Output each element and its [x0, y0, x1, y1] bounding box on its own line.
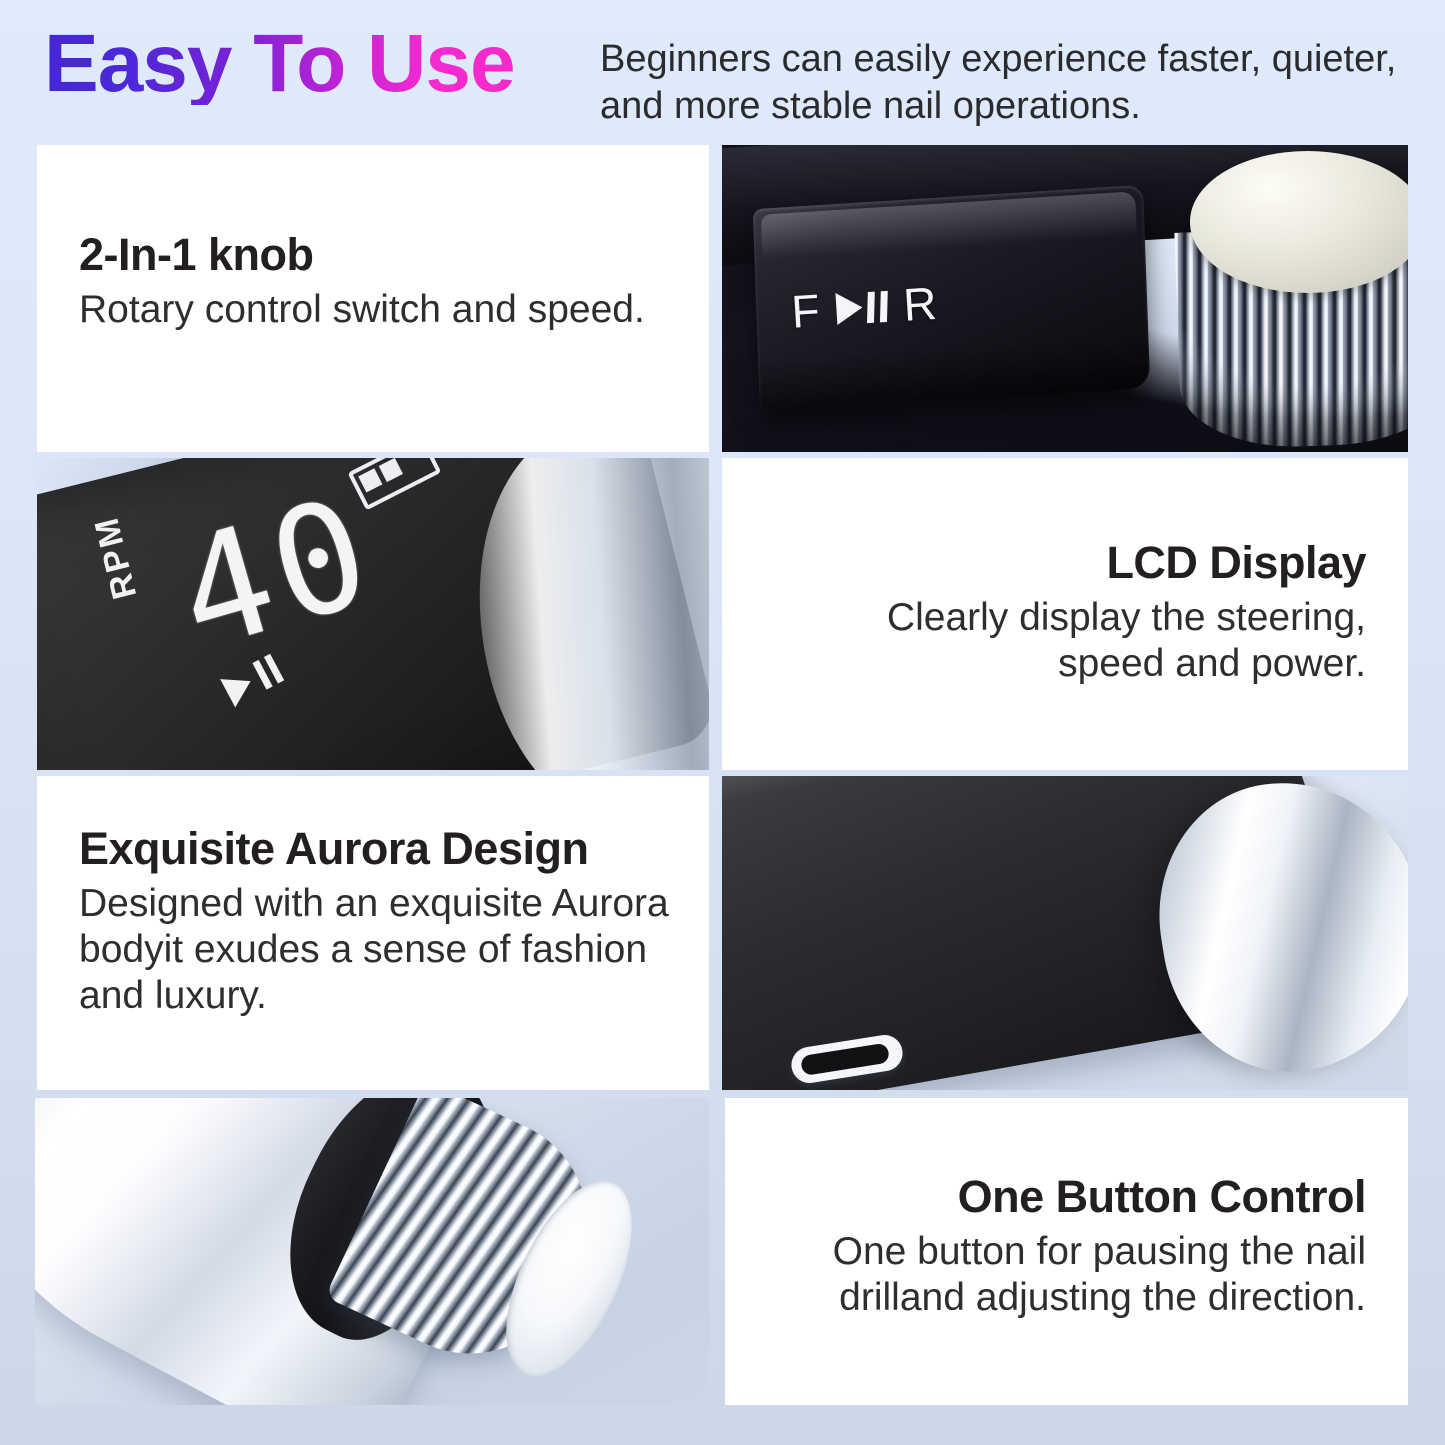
feature-body-aurora: Designed with an exquisite Aurora bodyit…: [79, 881, 704, 1019]
feature-title-knob: 2-In-1 knob: [79, 230, 689, 280]
lcd-display-closeup-photo: RPM 40: [37, 458, 709, 770]
rpm-label: RPM: [87, 512, 145, 603]
feature-title-one-button: One Button Control: [766, 1172, 1366, 1222]
page-subtitle: Beginners can easily experience faster, …: [600, 36, 1410, 129]
feature-text-lcd: LCD Display Clearly display the steering…: [776, 538, 1366, 687]
play-pause-icon: [835, 290, 888, 325]
control-button-closeup-photo: F R: [722, 145, 1408, 452]
photo-background: PUATO: [722, 776, 1408, 1090]
header: Easy To Use Beginners can easily experie…: [0, 0, 1445, 142]
knurled-knob-photo: [35, 1098, 709, 1405]
feature-card-knob: 2-In-1 knob Rotary control switch and sp…: [37, 145, 709, 452]
feature-body-one-button: One button for pausing the nail drilland…: [766, 1229, 1366, 1321]
feature-text-knob: 2-In-1 knob Rotary control switch and sp…: [79, 230, 689, 333]
rpm-value: 40: [162, 476, 389, 673]
feature-body-lcd: Clearly display the steering, speed and …: [776, 595, 1366, 687]
feature-card-lcd: LCD Display Clearly display the steering…: [722, 458, 1408, 770]
feature-title-lcd: LCD Display: [776, 538, 1366, 588]
battery-icon: [348, 458, 442, 510]
feature-text-one-button: One Button Control One button for pausin…: [766, 1172, 1366, 1321]
forward-label: F: [789, 283, 821, 339]
reverse-label: R: [901, 276, 938, 332]
photo-background: RPM 40: [37, 458, 709, 770]
page-title: Easy To Use: [44, 23, 515, 105]
feature-card-one-button: One Button Control One button for pausin…: [725, 1098, 1408, 1405]
aurora-body-photo: PUATO: [722, 776, 1408, 1090]
photo-background: F R: [722, 145, 1408, 452]
feature-text-aurora: Exquisite Aurora Design Designed with an…: [79, 824, 704, 1019]
feature-body-knob: Rotary control switch and speed.: [79, 287, 689, 333]
feature-card-aurora: Exquisite Aurora Design Designed with an…: [37, 776, 709, 1090]
infographic-page: Easy To Use Beginners can easily experie…: [0, 0, 1445, 1445]
photo-background: [35, 1098, 709, 1405]
feature-title-aurora: Exquisite Aurora Design: [79, 824, 704, 874]
